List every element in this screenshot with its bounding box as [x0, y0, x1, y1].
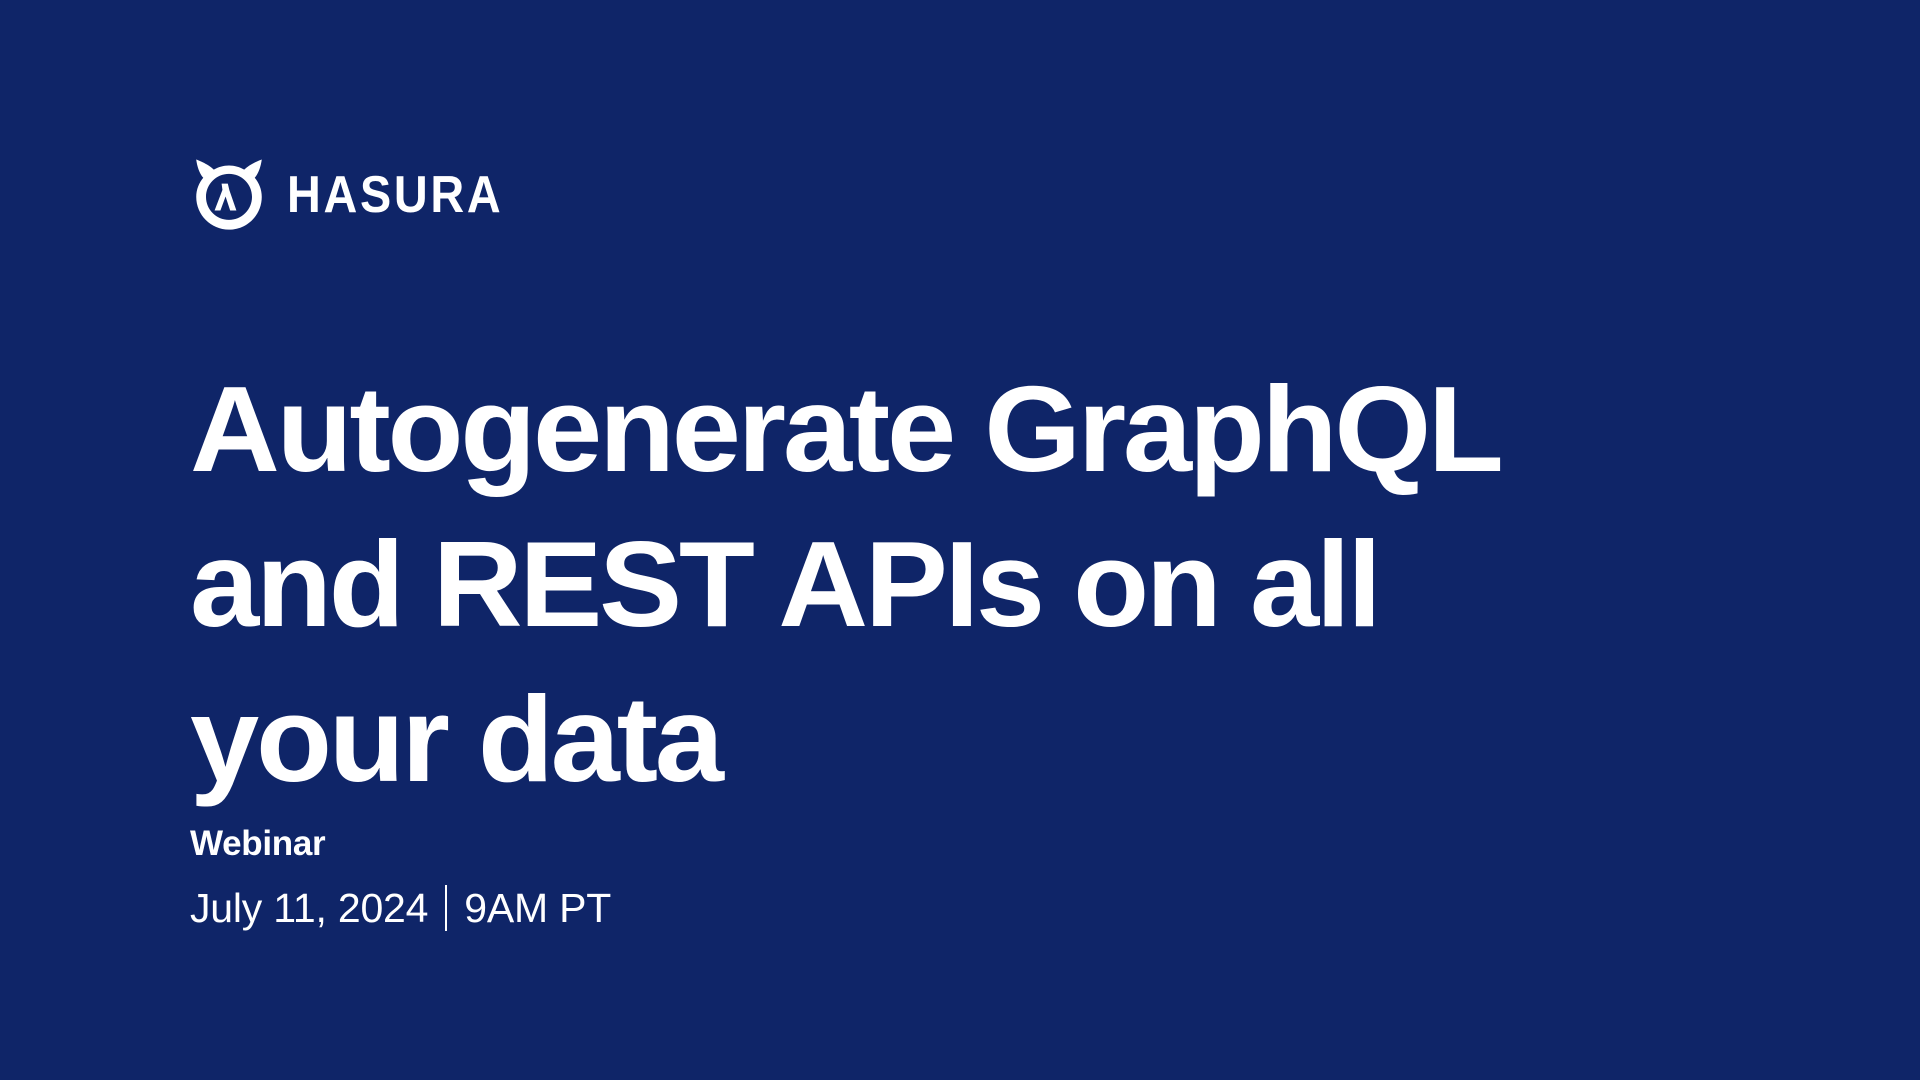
- datetime-separator: [445, 885, 447, 931]
- event-datetime: July 11, 2024 9AM PT: [190, 882, 611, 934]
- headline-line-2: and REST APIs on all: [190, 507, 1781, 662]
- event-date: July 11, 2024: [190, 882, 428, 934]
- hasura-wordmark: HASURA: [287, 166, 503, 221]
- event-meta: Webinar July 11, 2024 9AM PT: [190, 820, 611, 934]
- event-type-label: Webinar: [190, 820, 611, 868]
- event-time: 9AM PT: [464, 882, 611, 934]
- headline-line-1: Autogenerate GraphQL: [190, 352, 1781, 507]
- headline-line-3: your data: [190, 662, 1781, 817]
- hasura-devil-lambda-logo-icon: [190, 154, 268, 232]
- hasura-logo-lockup: HASURA: [190, 155, 527, 231]
- page-title: Autogenerate GraphQL and REST APIs on al…: [190, 352, 1781, 817]
- webinar-promo-slide: HASURA Autogenerate GraphQL and REST API…: [0, 0, 1920, 1080]
